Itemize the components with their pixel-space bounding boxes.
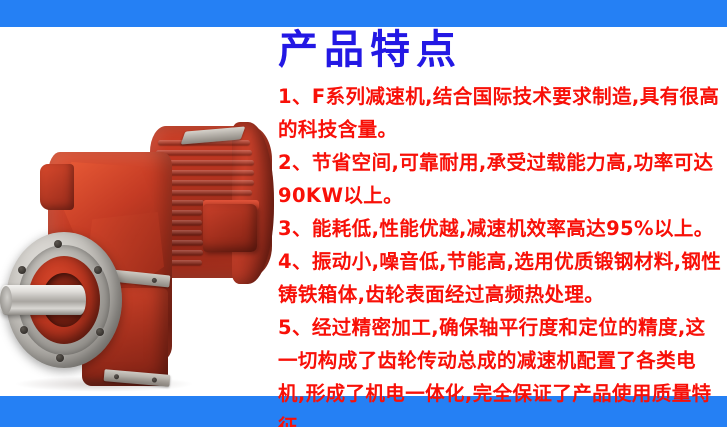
- flange-bolt: [96, 328, 104, 336]
- terminal-box: [203, 204, 257, 252]
- flange-bolt: [20, 326, 28, 334]
- motor-cooling-fin: [156, 150, 252, 155]
- output-shaft-tip: [0, 286, 12, 314]
- feature-item-3: 3、能耗低,性能优越,减速机效率高达95%以上。: [278, 212, 722, 245]
- product-photo-gear-motor: [0, 100, 272, 396]
- page-title: 产品特点: [278, 30, 462, 70]
- feature-item-2: 2、节省空间,可靠耐用,承受过载能力高,功率可达90KW以上。: [278, 146, 722, 212]
- flange-bolt: [94, 266, 102, 274]
- bolt-head: [152, 278, 157, 283]
- output-shaft: [0, 285, 86, 315]
- flange-bolt: [56, 354, 64, 362]
- product-feature-banner: 产品特点 1、F系列减速机,结合国际技术要求制造,具有很高的科技含量。 2、节省…: [0, 0, 727, 427]
- flange-bolt: [18, 266, 26, 274]
- flange-bolt: [54, 240, 62, 248]
- feature-item-5: 5、经过精密加工,确保轴平行度和定位的精度,这一切构成了齿轮传动总成的减速机配置…: [278, 311, 722, 427]
- gearbox-mounting-lug: [40, 164, 74, 210]
- top-accent-bar: [0, 0, 727, 27]
- feature-list: 1、F系列减速机,结合国际技术要求制造,具有很高的科技含量。 2、节省空间,可靠…: [278, 80, 722, 427]
- feature-item-1: 1、F系列减速机,结合国际技术要求制造,具有很高的科技含量。: [278, 80, 722, 146]
- feature-item-4: 4、振动小,噪音低,节能高,选用优质锻钢材料,钢性铸铁箱体,齿轮表面经过高频热处…: [278, 245, 722, 311]
- product-shadow: [14, 376, 194, 392]
